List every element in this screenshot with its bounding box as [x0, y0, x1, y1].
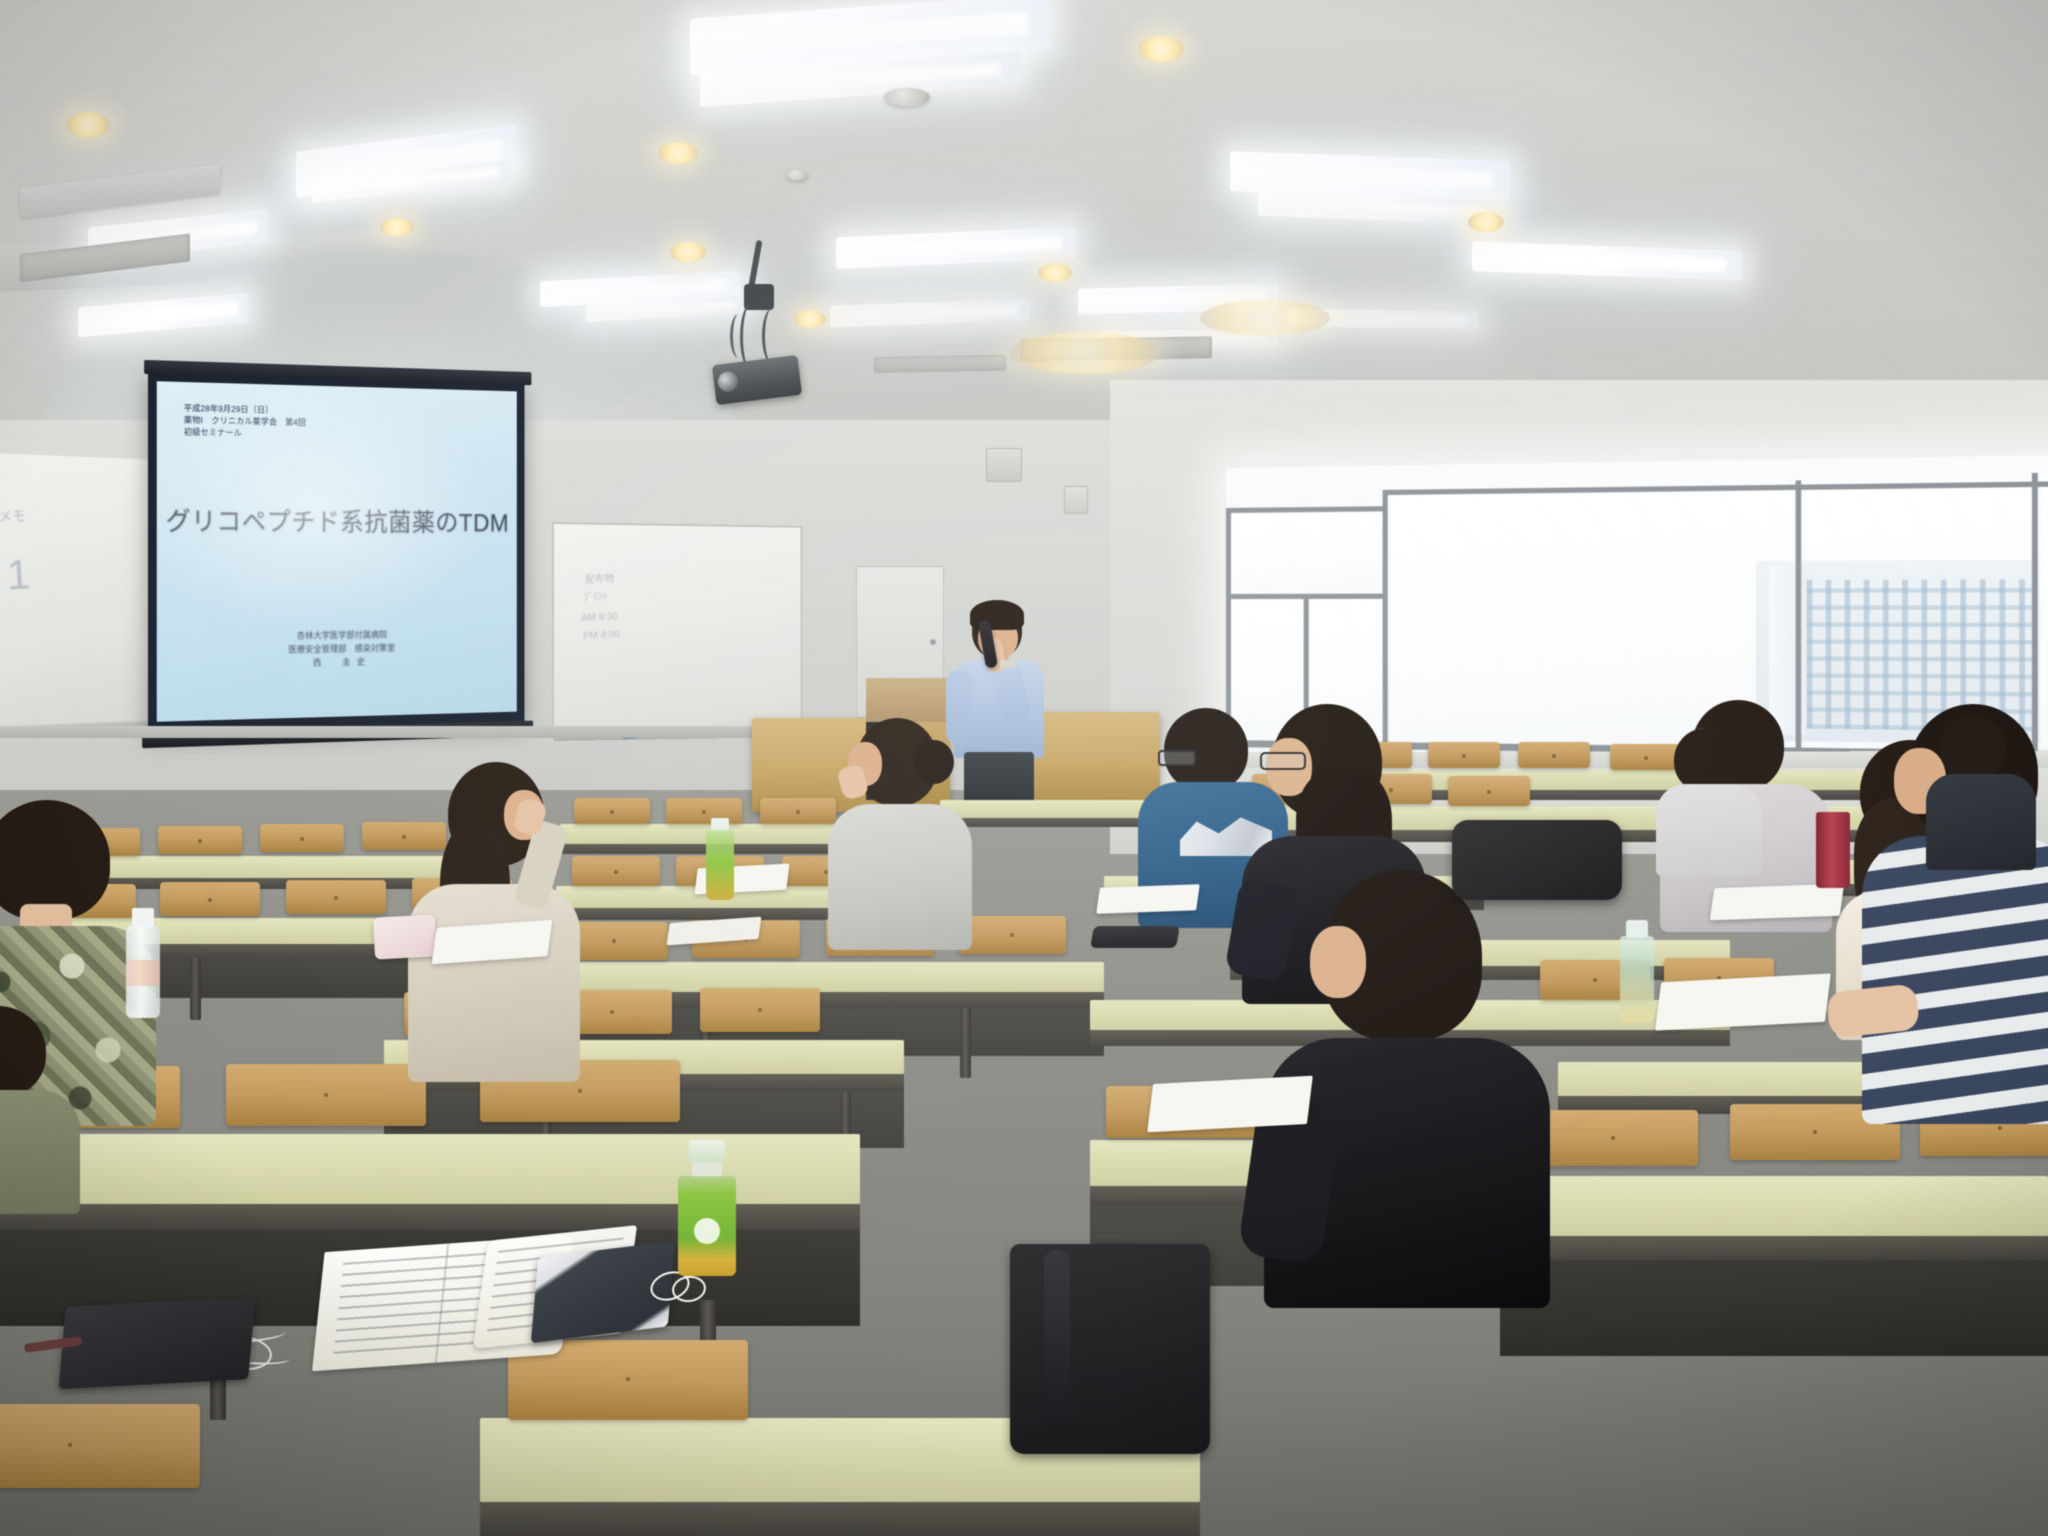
window-pane — [1232, 512, 1383, 596]
projector-lens — [717, 370, 739, 392]
lecture-chair — [1428, 742, 1500, 768]
student-head — [1940, 716, 2006, 780]
lecture-chair — [286, 880, 386, 914]
bottle-cap — [689, 1140, 725, 1164]
water-bottle[interactable] — [706, 818, 734, 900]
lecture-chair — [160, 882, 260, 916]
bottle-body — [706, 830, 734, 900]
desk-edge — [1500, 1236, 2048, 1260]
whiteboard: 配布物 ﾌﾟﾘﾝﾄ AM 9:30 PM 4:00 — [552, 522, 802, 734]
presenter-watch — [1000, 660, 1016, 668]
recessed-downlight — [66, 112, 110, 138]
recessed-downlight — [1010, 332, 1160, 374]
student-hair-bun — [914, 740, 954, 784]
whiteboard-ink-line: AM 9:30 — [581, 609, 618, 627]
desk-front-panel — [1500, 1260, 2048, 1356]
bag-under-desk[interactable] — [1452, 820, 1622, 900]
lecture-chair — [0, 1404, 200, 1488]
student-glasses — [1158, 750, 1196, 766]
handout-papers[interactable] — [1147, 1076, 1313, 1133]
screen-surface: 平成28年9月29日（日） 薬物Ⅰ クリニカル薬学会 第4回 初級セミナール グ… — [157, 381, 517, 722]
lecture-chair — [1448, 776, 1530, 806]
window-transom — [1226, 594, 1387, 599]
smoke-detector — [884, 88, 930, 106]
door-knob[interactable] — [930, 639, 936, 645]
student-grey-top — [828, 804, 972, 950]
lecture-chair — [1528, 1110, 1698, 1166]
student-face — [1310, 926, 1366, 998]
green-tea-bottle[interactable] — [678, 1140, 736, 1276]
lecture-chair — [1518, 742, 1590, 768]
student-left-beige-cardigan — [412, 762, 592, 1082]
projector-body — [712, 355, 802, 405]
lecture-chair — [260, 824, 344, 852]
water-bottle[interactable] — [1620, 920, 1654, 1022]
laptop-sleeve[interactable] — [59, 1297, 256, 1389]
whiteboard-ink-line: ﾌﾟﾘﾝﾄ — [583, 590, 608, 607]
air-vent — [874, 355, 1006, 373]
pink-pouch[interactable] — [373, 914, 437, 959]
bottle-body — [1620, 936, 1654, 1022]
student-back-row-dark — [1656, 728, 1766, 868]
student-top — [1656, 784, 1762, 876]
projection-screen: 平成28年9月29日（日） 薬物Ⅰ クリニカル薬学会 第4回 初級セミナール グ… — [148, 372, 525, 732]
desk-leg — [190, 958, 201, 1020]
ceiling-mounted-projector — [700, 240, 820, 400]
recessed-downlight — [380, 218, 414, 236]
whiteboard: メモ 1 — [0, 453, 160, 727]
recessed-downlight — [1468, 212, 1504, 232]
student-head — [1674, 728, 1738, 792]
recessed-downlight — [1138, 36, 1184, 62]
bottle-logo — [694, 1218, 720, 1244]
handout-papers[interactable] — [1096, 884, 1200, 914]
wall-speaker — [986, 448, 1022, 482]
bottle-label — [126, 960, 160, 986]
handout-papers[interactable] — [1710, 884, 1844, 921]
student-head — [0, 1006, 46, 1098]
water-bottle[interactable] — [126, 908, 160, 1018]
recessed-downlight — [658, 142, 698, 164]
whiteboard-ink-large: 1 — [6, 554, 32, 597]
handout-papers[interactable] — [1655, 973, 1831, 1030]
whiteboard-ink-small: メモ — [0, 508, 26, 526]
recessed-downlight — [1038, 264, 1072, 282]
lecture-chair — [226, 1064, 426, 1126]
slide-header: 平成28年9月29日（日） 薬物Ⅰ クリニカル薬学会 第4回 初級セミナール — [184, 402, 306, 440]
student-left-edge-partial — [0, 1006, 70, 1206]
lecture-hall-photo: メモ 1 配布物 ﾌﾟﾘﾝﾄ AM 9:30 PM 4:00 平成28年9月29… — [0, 0, 2048, 1536]
bottle-cap — [132, 908, 154, 928]
student-striped-top — [1862, 836, 2048, 1124]
recessed-downlight — [1200, 300, 1330, 336]
lecture-chair — [700, 988, 820, 1032]
student-glasses — [1260, 752, 1306, 770]
slide-title: グリコペプチド系抗菌薬のTDM — [157, 501, 517, 539]
slide-credits: 杏林大学医学部付属病院 医療安全管理部 感染対策室 西 圭史 — [157, 626, 517, 673]
lecture-desk — [544, 962, 1104, 992]
backpack[interactable] — [1010, 1244, 1210, 1454]
student-top — [0, 1090, 80, 1214]
student-cardigan — [408, 884, 580, 1082]
lecture-chair — [760, 798, 836, 824]
pencil-case[interactable] — [1090, 926, 1180, 948]
backpack-strap — [1044, 1250, 1070, 1420]
student-center-grey-top — [830, 718, 980, 948]
student-top — [1926, 774, 2036, 870]
whiteboard-ink-line: 配布物 — [585, 572, 615, 589]
student-head — [0, 800, 110, 920]
smoke-detector — [786, 170, 808, 180]
whiteboard-ink-line: PM 4:00 — [583, 627, 620, 645]
desk-edge — [480, 1502, 1200, 1536]
student-far-right-back — [1928, 716, 2038, 856]
lecture-desk — [1500, 1176, 2048, 1236]
wall-control-plate[interactable] — [1064, 486, 1088, 514]
red-thermos[interactable] — [1816, 812, 1850, 888]
desk-leg — [960, 1008, 971, 1078]
